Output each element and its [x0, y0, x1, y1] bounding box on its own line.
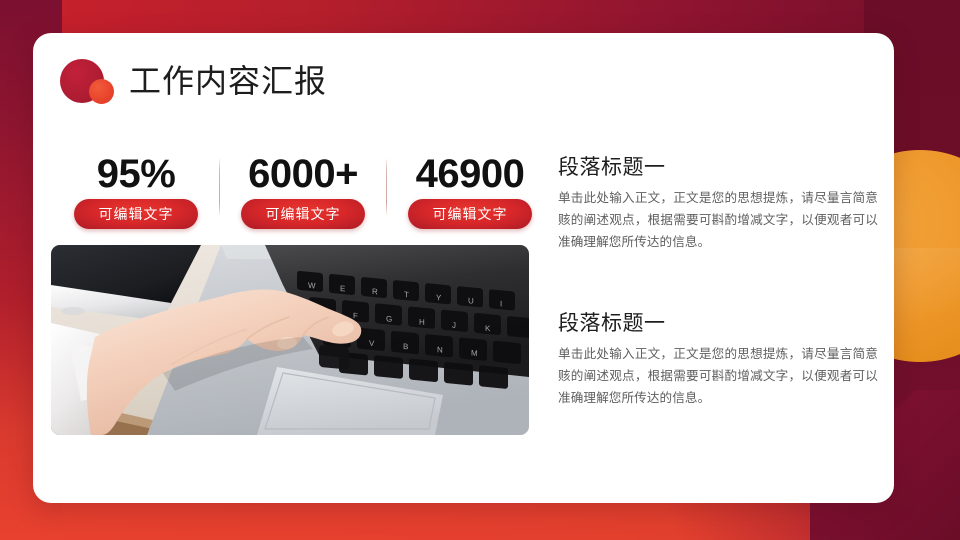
stat-value: 6000+	[248, 153, 358, 195]
svg-text:U: U	[468, 296, 474, 306]
svg-text:B: B	[403, 342, 408, 351]
laptop-typing-photo: W E R T Y U I D F G H J K C V B N	[51, 245, 529, 435]
content-card: 工作内容汇报 95% 可编辑文字 6000+ 可编辑文字 46900 可编辑文字	[33, 33, 894, 503]
svg-text:H: H	[419, 317, 425, 327]
stat-pill-button[interactable]: 可编辑文字	[74, 199, 198, 229]
svg-text:K: K	[485, 324, 491, 334]
slide-header: 工作内容汇报	[59, 48, 327, 114]
svg-text:N: N	[437, 345, 443, 355]
svg-text:I: I	[500, 299, 502, 308]
stat-item-2: 6000+ 可编辑文字	[220, 153, 386, 229]
svg-text:R: R	[372, 287, 378, 297]
svg-text:F: F	[353, 311, 358, 320]
paragraph-block-1: 段落标题一 单击此处输入正文，正文是您的思想提炼，请尽量言简意赅的阐述观点，根据…	[558, 155, 878, 253]
slide-canvas: 工作内容汇报 95% 可编辑文字 6000+ 可编辑文字 46900 可编辑文字	[0, 0, 960, 540]
paragraph-body: 单击此处输入正文，正文是您的思想提炼，请尽量言简意赅的阐述观点，根据需要可斟酌增…	[558, 344, 878, 409]
stats-row: 95% 可编辑文字 6000+ 可编辑文字 46900 可编辑文字	[53, 153, 553, 229]
stat-item-3: 46900 可编辑文字	[387, 153, 553, 229]
stat-pill-button[interactable]: 可编辑文字	[408, 199, 532, 229]
paragraph-body: 单击此处输入正文，正文是您的思想提炼，请尽量言简意赅的阐述观点，根据需要可斟酌增…	[558, 188, 878, 253]
svg-text:T: T	[404, 290, 409, 299]
paragraph-column: 段落标题一 单击此处输入正文，正文是您的思想提炼，请尽量言简意赅的阐述观点，根据…	[558, 155, 878, 409]
logo-icon	[59, 57, 117, 105]
paragraph-title: 段落标题一	[558, 155, 878, 181]
svg-text:E: E	[340, 284, 345, 293]
svg-text:V: V	[369, 339, 375, 349]
paragraph-block-2: 段落标题一 单击此处输入正文，正文是您的思想提炼，请尽量言简意赅的阐述观点，根据…	[558, 311, 878, 409]
stat-value: 95%	[97, 153, 176, 195]
svg-text:J: J	[452, 321, 456, 330]
svg-text:Y: Y	[436, 293, 442, 303]
stat-value: 46900	[416, 153, 525, 195]
svg-text:W: W	[308, 281, 316, 291]
svg-text:G: G	[386, 314, 392, 324]
page-title: 工作内容汇报	[129, 65, 327, 97]
paragraph-title: 段落标题一	[558, 311, 878, 337]
svg-text:M: M	[471, 348, 478, 358]
stat-pill-button[interactable]: 可编辑文字	[241, 199, 365, 229]
stat-item-1: 95% 可编辑文字	[53, 153, 219, 229]
logo-small-circle-icon	[89, 79, 114, 104]
